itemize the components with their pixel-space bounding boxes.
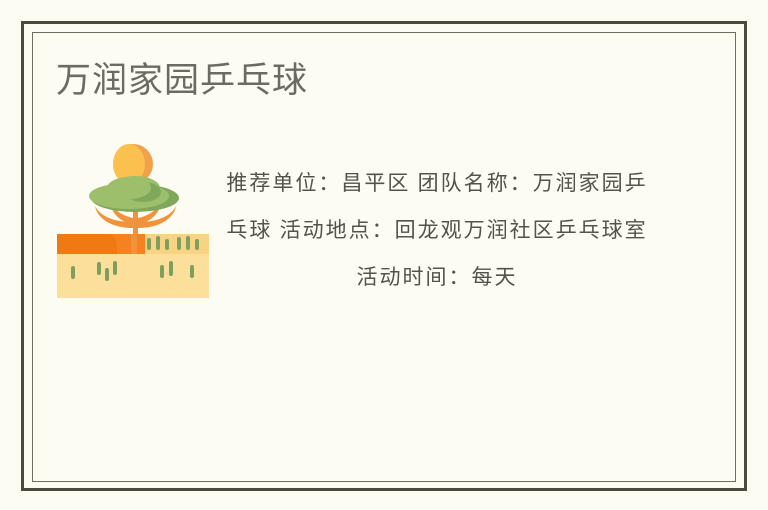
- savanna-landscape-icon: [57, 136, 209, 298]
- card-content: 万润家园乒乓球: [32, 32, 736, 482]
- detail-line-1: 推荐单位：昌平区: [226, 171, 410, 195]
- activity-details: 推荐单位：昌平区 团队名称：万润家园乒乓球 活动地点：回龙观万润社区乒乓球室 活…: [222, 160, 652, 301]
- detail-line-3: 活动地点：回龙观万润社区乒乓球室: [280, 218, 648, 242]
- page-root: 万润家园乒乓球: [0, 0, 768, 510]
- detail-line-4: 活动时间：每天: [357, 265, 518, 289]
- page-title: 万润家园乒乓球: [56, 60, 308, 102]
